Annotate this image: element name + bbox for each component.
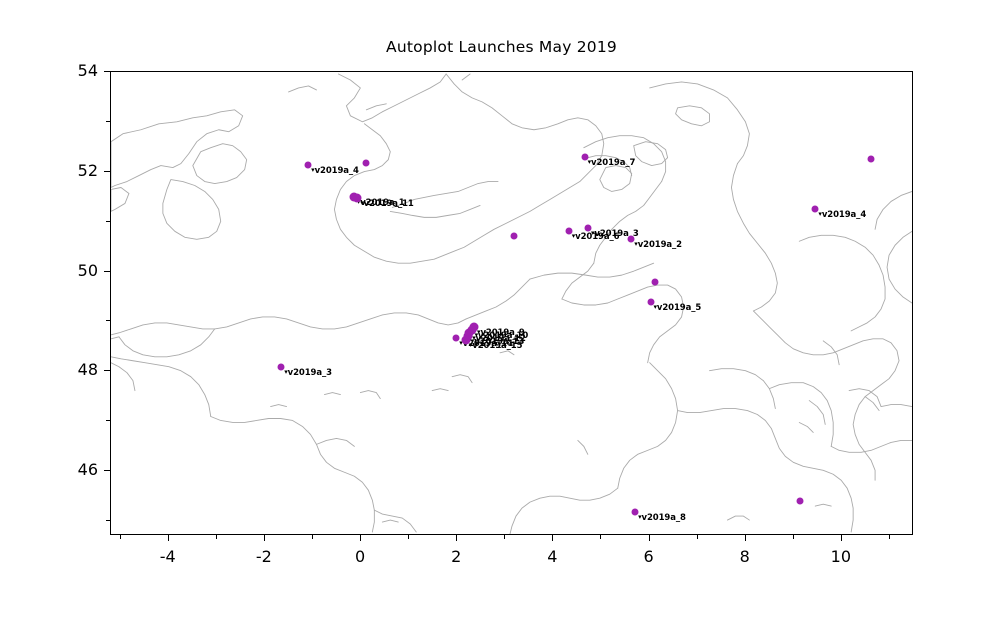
y-tick-label: 50 [52,261,98,280]
x-tick-minor [312,535,313,539]
x-tick-minor [793,535,794,539]
axis-tick-layer: 4648505254-4-20246810 [110,71,913,535]
x-tick-minor [408,535,409,539]
y-tick-major [104,470,110,471]
x-tick-major [456,535,457,541]
y-tick-major [104,71,110,72]
y-tick-minor [106,520,110,521]
x-tick-minor [600,535,601,539]
x-tick-major [552,535,553,541]
x-tick-label: 4 [522,547,582,566]
y-tick-label: 52 [52,161,98,180]
y-tick-label: 46 [52,460,98,479]
x-tick-minor [889,535,890,539]
x-tick-label: 8 [715,547,775,566]
y-tick-major [104,370,110,371]
x-tick-minor [216,535,217,539]
y-tick-minor [106,121,110,122]
y-tick-minor [106,420,110,421]
x-tick-label: 6 [619,547,679,566]
x-tick-major [841,535,842,541]
x-tick-minor [504,535,505,539]
y-tick-major [104,171,110,172]
x-tick-label: 0 [330,547,390,566]
chart-title: Autoplot Launches May 2019 [0,38,1003,56]
y-tick-minor [106,320,110,321]
matplotlib-figure: Autoplot Launches May 2019 [0,0,1003,633]
x-tick-minor [120,535,121,539]
x-tick-major [649,535,650,541]
x-tick-major [168,535,169,541]
x-tick-label: -4 [138,547,198,566]
x-tick-label: 2 [426,547,486,566]
x-tick-major [264,535,265,541]
y-tick-minor [106,221,110,222]
x-tick-label: -2 [234,547,294,566]
x-tick-major [360,535,361,541]
y-tick-label: 48 [52,360,98,379]
y-tick-major [104,271,110,272]
x-tick-label: 10 [811,547,871,566]
y-tick-label: 54 [52,61,98,80]
x-tick-major [745,535,746,541]
x-tick-minor [697,535,698,539]
